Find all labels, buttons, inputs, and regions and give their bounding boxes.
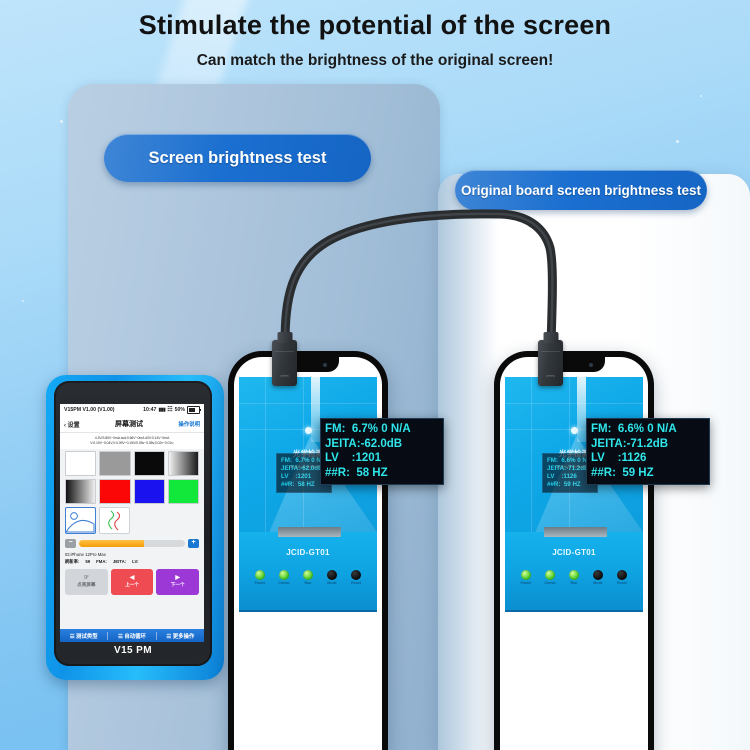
speck (700, 95, 702, 97)
image-pattern-icon[interactable] (65, 507, 96, 534)
phone-right-screen[interactable]: 光学检测 Optical detection FM: 6.6% 0 N/A JE… (500, 357, 648, 750)
jcid-slot (544, 527, 607, 537)
mode-button-icon[interactable] (593, 570, 603, 580)
tap-to-light-screen-button[interactable]: ☞ 点亮屏幕 (65, 569, 108, 595)
back-label: 设置 (68, 423, 80, 429)
menu-icon: ☰ (118, 634, 123, 640)
power-led-icon (255, 570, 265, 580)
screen-brightness-test-label: Screen brightness test (104, 134, 371, 182)
run-led-icon (569, 570, 579, 580)
brightness-track[interactable] (79, 540, 185, 547)
chevron-left-icon: ‹ (64, 423, 66, 429)
promo-graphic: Stimulate the potential of the screen Ca… (0, 0, 750, 750)
mode-button-icon[interactable] (327, 570, 337, 580)
tab-more-operations[interactable]: ☰ 更多操作 (157, 632, 204, 640)
phone-right: 光学检测 Optical detection FM: 6.6% 0 N/A JE… (494, 351, 654, 750)
action-button-row[interactable]: ☞ 点亮屏幕 ◀ 上一个 ▶ 下一个 (60, 566, 204, 595)
back-button[interactable]: ‹ 设置 (64, 420, 80, 429)
clock-label: 10:47 (143, 407, 156, 413)
signal-bars-icon: ▮▮▮ (158, 407, 165, 413)
speck (22, 300, 24, 302)
programmer-status-bar: V15PM V1.00 (V1.00) 10:47 ▮▮▮ ☷ 50% (60, 404, 204, 416)
jcid-slot (278, 527, 341, 537)
programmer-nav-bar: ‹ 设置 屏幕测试 操作说明 (60, 416, 204, 433)
jcid-device-graphic: JCID-GT01 Power Comm Run Mode Reset (239, 532, 377, 612)
usb-icon: ⎓ (280, 371, 289, 382)
usb-connector-right: ⎓ (538, 340, 563, 386)
tab-test-type-label: 测试类型 (76, 634, 98, 640)
brightness-fill (79, 540, 144, 547)
next-label: 下一个 (171, 582, 185, 588)
menu-icon: ☰ (166, 634, 171, 640)
wifi-icon: ☷ (167, 407, 172, 413)
usb-seam (275, 351, 294, 352)
phone-left: 光学检测 Optical detection FM: 6.7% 0 N/A JE… (228, 351, 388, 750)
hand-tap-icon: ☞ (84, 575, 89, 581)
help-link[interactable]: 操作说明 (178, 420, 200, 428)
page-title: Stimulate the potential of the screen (0, 10, 750, 41)
usb-icon: ⎓ (546, 371, 555, 382)
voltage-line-2: V:0.19V~0.04V,V:0.09V~0.15V/0.05v~0.08v,… (64, 441, 200, 446)
color-swatch-grid[interactable] (60, 449, 204, 504)
comm-led-icon (279, 570, 289, 580)
swatch-gradient-gray[interactable] (168, 451, 199, 476)
light-source-dot (571, 427, 578, 434)
speck (60, 120, 63, 123)
device-info-block: ID:iPhone 12Pro Max 刷新率: 59 FMA: JEITA: … (60, 550, 204, 566)
programmer-screen[interactable]: V15PM V1.00 (V1.00) 10:47 ▮▮▮ ☷ 50% ‹ 设置… (60, 404, 204, 642)
voltage-readout: 4.3V/3.89V~0mA avd:0.66V~0mA d3V:0.14V~0… (60, 433, 204, 449)
phone-left-screen[interactable]: 光学检测 Optical detection FM: 6.7% 0 N/A JE… (234, 357, 382, 750)
device-id-label: ID:iPhone 12Pro Max (65, 552, 199, 558)
next-arrow-icon: ▶ (175, 575, 180, 581)
tab-test-type[interactable]: ☰ 测试类型 (60, 632, 108, 640)
reset-button-label: Reset (615, 581, 630, 585)
comm-led-label: Comm (543, 581, 558, 585)
right-readout-callout: FM: 6.6% 0 N/A JEITA:-71.2dB LV :1126 ##… (586, 418, 710, 485)
jcid-device-graphic: JCID-GT01 Power Comm Run Mode Reset (505, 532, 643, 612)
usb-seam (541, 351, 560, 352)
front-camera-icon (589, 363, 593, 367)
original-board-test-label: Original board screen brightness test (455, 170, 707, 210)
left-readout-callout: FM: 6.7% 0 N/A JEITA:-62.0dB LV :1201 ##… (320, 418, 444, 485)
squiggle-pattern-icon[interactable] (99, 507, 130, 534)
previous-button[interactable]: ◀ 上一个 (111, 569, 154, 595)
pattern-row[interactable] (60, 504, 204, 534)
power-led-label: Power (253, 581, 268, 585)
reset-button-label: Reset (349, 581, 364, 585)
battery-percent-label: 50% (175, 407, 185, 413)
tab-auto-cycle-label: 自动循环 (124, 634, 146, 640)
usb-strain-relief (543, 332, 558, 343)
comm-led-label: Comm (277, 581, 292, 585)
refresh-rate-value: 59 (85, 559, 90, 565)
jcid-led-row: Power Comm Run Mode Reset (505, 570, 643, 585)
mode-button-label: Mode (591, 581, 606, 585)
swatch-black[interactable] (134, 451, 165, 476)
tab-more-operations-label: 更多操作 (173, 634, 195, 640)
front-camera-icon (323, 363, 327, 367)
next-button[interactable]: ▶ 下一个 (156, 569, 199, 595)
mode-button-label: Mode (325, 581, 340, 585)
prev-arrow-icon: ◀ (130, 575, 135, 581)
reset-button-icon[interactable] (351, 570, 361, 580)
swatch-blue[interactable] (134, 479, 165, 504)
previous-label: 上一个 (125, 582, 139, 588)
run-led-icon (303, 570, 313, 580)
run-led-label: Run (301, 581, 316, 585)
power-led-icon (521, 570, 531, 580)
light-source-dot (305, 427, 312, 434)
brightness-minus-button[interactable]: − (65, 539, 76, 548)
power-led-label: Power (519, 581, 534, 585)
brightness-slider[interactable]: − + (60, 534, 204, 550)
programmer-model-label: V15 PM (54, 645, 212, 656)
firmware-version: V15PM V1.00 (V1.00) (64, 407, 114, 413)
swatch-green[interactable] (168, 479, 199, 504)
brightness-plus-button[interactable]: + (188, 539, 199, 548)
swatch-gradient-dark[interactable] (65, 479, 96, 504)
reset-button-icon[interactable] (617, 570, 627, 580)
screen-test-title: 屏幕测试 (80, 419, 179, 429)
usb-connector-left: ⎓ (272, 340, 297, 386)
swatch-gray[interactable] (99, 451, 130, 476)
jeita-label: JEITA: (113, 559, 126, 565)
light-beam (577, 377, 586, 442)
light-beam (311, 377, 320, 442)
jcid-device-name: JCID-GT01 (239, 548, 377, 557)
page-subtitle: Can match the brightness of the original… (0, 52, 750, 70)
tab-auto-cycle[interactable]: ☰ 自动循环 (108, 632, 156, 640)
jcid-device-name: JCID-GT01 (505, 548, 643, 557)
programmer-tab-bar[interactable]: ☰ 测试类型 ☰ 自动循环 ☰ 更多操作 (60, 629, 204, 642)
speck (676, 140, 679, 143)
fma-label: FMA: (96, 559, 107, 565)
tap-to-light-screen-label: 点亮屏幕 (77, 582, 95, 588)
run-led-label: Run (567, 581, 582, 585)
menu-icon: ☰ (70, 634, 75, 640)
jcid-led-row: Power Comm Run Mode Reset (239, 570, 377, 585)
swatch-red[interactable] (99, 479, 130, 504)
lv-label: LV: (132, 559, 138, 565)
refresh-rate-label: 刷新率: (65, 559, 79, 565)
usb-strain-relief (277, 332, 292, 343)
swatch-white[interactable] (65, 451, 96, 476)
battery-icon (187, 406, 200, 414)
comm-led-icon (545, 570, 555, 580)
